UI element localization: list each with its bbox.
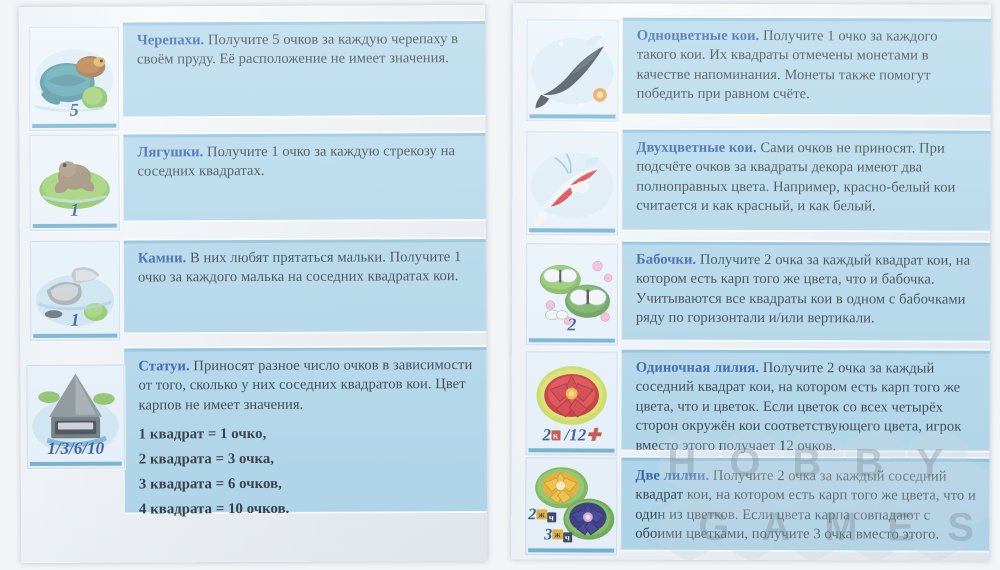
red-lily-token-icon: 2к /12✚ <box>525 351 617 455</box>
turtle-token-value: 5 <box>30 100 118 121</box>
butterflies-token-icon: 2 <box>526 243 618 345</box>
red-white-koi-token-icon <box>526 131 618 235</box>
score-row: 4 квадрата = 10 очков. <box>139 496 477 522</box>
rule-entry-single-lily: Одиночная лилия. Получите 2 очка за кажд… <box>511 347 989 455</box>
rule-title: Лягушки. <box>137 144 203 160</box>
statue-token-icon: 1/3/6/10 <box>26 365 124 469</box>
score-row: 2 квадрата = 3 очка, <box>139 446 477 472</box>
rule-text-panel: Одноцветные кои. Получите 1 очко за кажд… <box>623 16 991 117</box>
rule-entry-stones: Камни. В них любят прятаться мальки. Пол… <box>20 237 486 337</box>
rule-title: Бабочки. <box>636 252 696 268</box>
frog-token-icon: 1 <box>29 135 119 231</box>
rule-text: Камни. В них любят прятаться мальки. Пол… <box>138 248 476 288</box>
rule-title: Черепахи. <box>137 32 204 48</box>
rule-text: Одиночная лилия. Получите 2 очка за кажд… <box>635 359 979 457</box>
rule-entry-frogs: Лягушки. Получите 1 очко за каждую стрек… <box>19 131 485 225</box>
rule-text-panel: Одиночная лилия. Получите 2 очка за кажд… <box>621 348 989 453</box>
rule-text: Черепахи. Получите 5 очков за каждую чер… <box>137 30 475 70</box>
statue-token-value: 1/3/6/10 <box>28 439 124 459</box>
color-chip-yellow: ж <box>552 529 563 539</box>
rule-entry-butterflies: Бабочки. Получите 2 очка за каждый квадр… <box>512 239 990 345</box>
two-lilies-token-value-first: 2жч <box>528 506 556 524</box>
red-white-koi-artwork <box>527 132 617 234</box>
black-koi-artwork <box>528 20 618 120</box>
rule-text: Статуи. Приносят разное число очков в за… <box>138 356 477 523</box>
rulebook-page-left: Черепахи. Получите 5 очков за каждую чер… <box>19 5 487 563</box>
scanned-spread: Черепахи. Получите 5 очков за каждую чер… <box>0 0 1000 570</box>
rule-body: В них любят прятаться мальки. Получите 1… <box>138 249 461 286</box>
rule-text-panel: Бабочки. Получите 2 очка за каждый квадр… <box>622 240 990 343</box>
rule-text-panel: Черепахи. Получите 5 очков за каждую чер… <box>123 19 485 119</box>
color-chip-red: к <box>551 430 560 440</box>
frog-token-value: 1 <box>31 200 119 221</box>
rule-entry-statues: Статуи. Приносят разное число очков в за… <box>20 345 487 517</box>
rule-text-panel: Лягушки. Получите 1 очко за каждую стрек… <box>123 131 485 223</box>
statue-score-table: 1 квадрат = 1 очко, 2 квадрата = 3 очка,… <box>139 421 477 522</box>
stones-token-icon: 1 <box>30 241 120 341</box>
rule-entry-two-color-koi: Двухцветные кои. Сами очков не приносят.… <box>512 127 990 235</box>
rule-text: Лягушки. Получите 1 очко за каждую стрек… <box>137 142 475 182</box>
rule-title: Статуи. <box>138 358 189 374</box>
rule-text-panel: Камни. В них любят прятаться мальки. Пол… <box>124 237 486 335</box>
color-chip-navy: ч <box>563 532 572 542</box>
rule-title: Одиночная лилия. <box>636 360 759 376</box>
butterflies-token-value: 2 <box>527 314 617 335</box>
rule-title: Одноцветные кои. <box>637 28 760 44</box>
rule-entry-turtles: Черепахи. Получите 5 очков за каждую чер… <box>19 19 485 121</box>
color-chip-navy: ч <box>547 512 556 522</box>
rule-text: Две лилии. Получите 2 очка за каждый сос… <box>635 467 979 546</box>
rule-body: Приносят разное число очков в зависимост… <box>138 357 472 413</box>
score-row: 1 квадрат = 1 очко, <box>139 421 477 447</box>
rule-title: Две лилии. <box>635 468 709 484</box>
red-lily-token-value: 2к /12✚ <box>526 425 616 445</box>
rulebook-page-right: Одноцветные кои. Получите 1 очко за кажд… <box>511 3 991 560</box>
rule-text: Двухцветные кои. Сами очков не приносят.… <box>636 139 980 218</box>
rule-text-panel: Статуи. Приносят разное число очков в за… <box>124 345 487 515</box>
rule-entry-single-color-koi: Одноцветные кои. Получите 1 очко за кажд… <box>513 15 991 119</box>
black-koi-token-icon <box>527 19 619 121</box>
rule-title: Двухцветные кои. <box>636 140 756 156</box>
two-lilies-token-icon: 2жч 3жч <box>525 457 617 555</box>
rule-text-panel: Две лилии. Получите 2 очка за каждый сос… <box>621 456 989 553</box>
rule-title: Камни. <box>138 250 186 266</box>
turtle-token-icon: 5 <box>29 27 119 131</box>
two-lilies-token-value-second: 3жч <box>544 526 572 544</box>
stones-token-value: 1 <box>31 310 119 331</box>
score-row: 3 квадрата = 6 очков, <box>139 471 477 497</box>
rule-entry-two-lilies: Две лилии. Получите 2 очка за каждый сос… <box>511 455 989 555</box>
rule-text: Бабочки. Получите 2 очка за каждый квадр… <box>636 251 980 330</box>
rule-text: Одноцветные кои. Получите 1 очко за кажд… <box>637 27 981 106</box>
color-chip-yellow: ж <box>536 509 547 519</box>
rule-text-panel: Двухцветные кои. Сами очков не приносят.… <box>622 128 990 233</box>
